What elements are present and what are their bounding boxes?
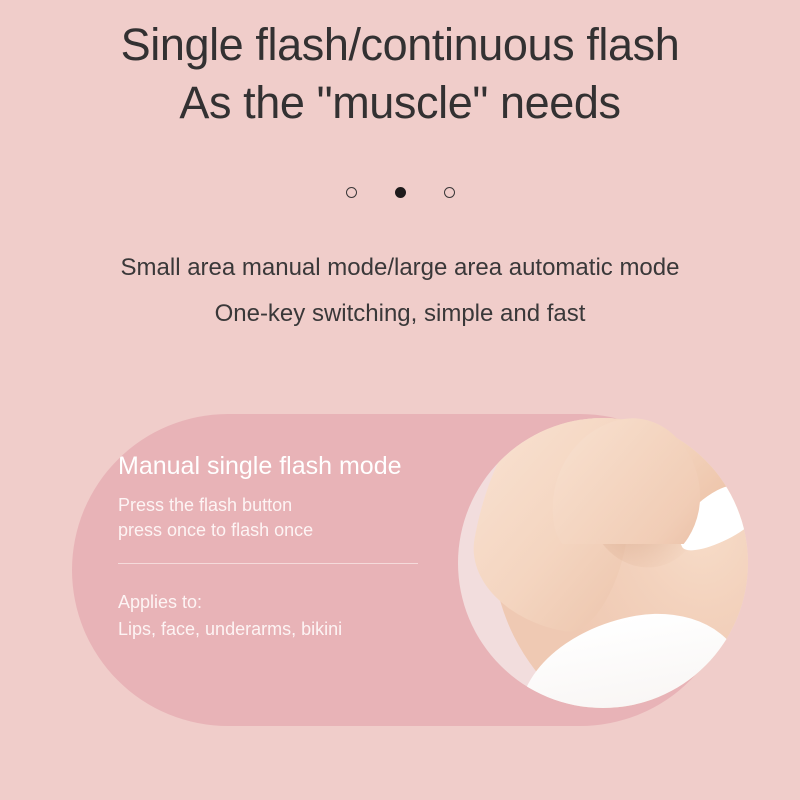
subheading-line-2: One-key switching, simple and fast xyxy=(0,291,800,337)
pager-dot-1[interactable] xyxy=(346,187,357,198)
applies-to-label: Applies to: xyxy=(118,589,448,616)
pager-dot-3[interactable] xyxy=(444,187,455,198)
mode-card-description: Press the flash button press once to fla… xyxy=(118,493,448,543)
underarm-photo-circle xyxy=(458,418,748,708)
mode-card-divider xyxy=(118,563,418,564)
subheading-block: Small area manual mode/large area automa… xyxy=(0,245,800,337)
mode-card-applies-block: Applies to: Lips, face, underarms, bikin… xyxy=(118,589,448,643)
headline-line-2: As the "muscle" needs xyxy=(0,74,800,132)
mode-card-desc-line-2: press once to flash once xyxy=(118,518,448,543)
pager-dots[interactable] xyxy=(0,187,800,198)
headline-line-1: Single flash/continuous flash xyxy=(0,16,800,74)
applies-to-value: Lips, face, underarms, bikini xyxy=(118,616,448,643)
underarm-photo xyxy=(458,418,748,708)
pager-dot-2-active[interactable] xyxy=(395,187,406,198)
mode-card-text: Manual single flash mode Press the flash… xyxy=(118,450,448,643)
product-feature-slide: Single flash/continuous flash As the "mu… xyxy=(0,0,800,800)
mode-card-desc-line-1: Press the flash button xyxy=(118,493,448,518)
mode-card-title: Manual single flash mode xyxy=(118,450,448,482)
headline-block: Single flash/continuous flash As the "mu… xyxy=(0,16,800,132)
subheading-line-1: Small area manual mode/large area automa… xyxy=(0,245,800,291)
